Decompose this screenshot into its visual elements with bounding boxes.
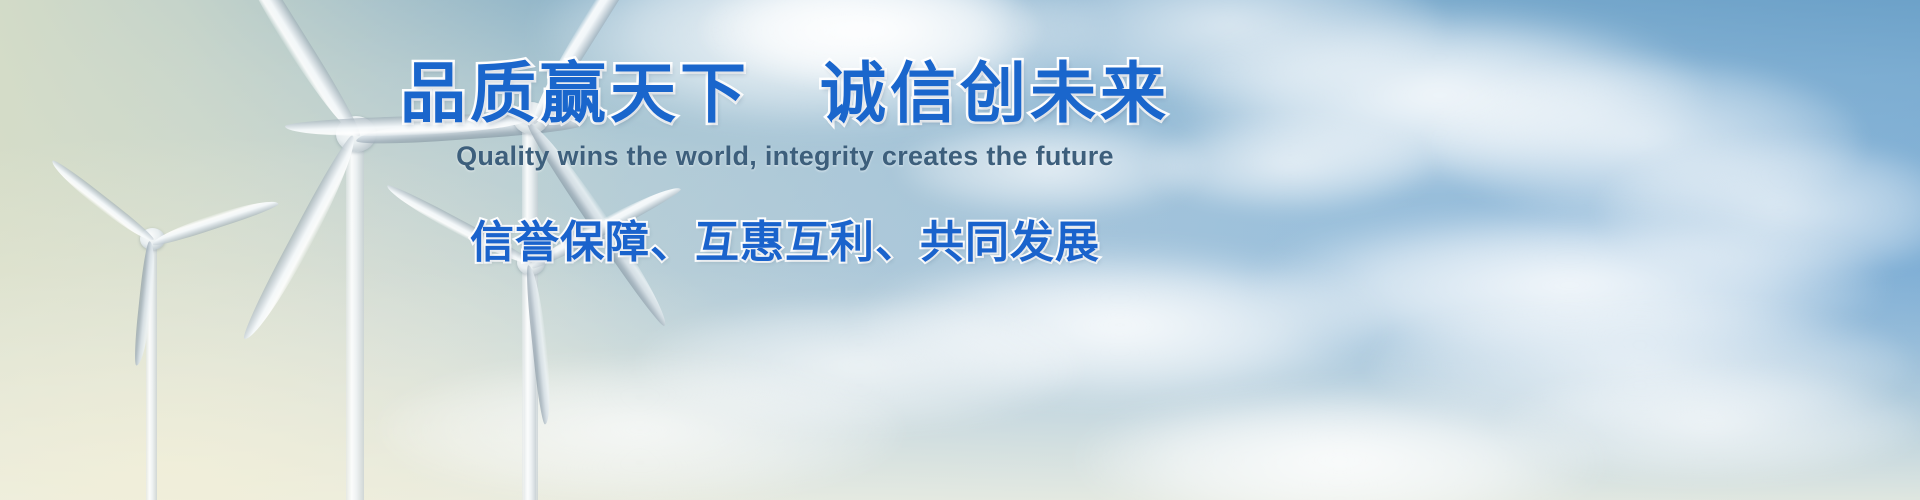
banner-headline: 品质赢天下 诚信创未来: [0, 58, 1570, 129]
banner-tagline: 信誉保障、互惠互利、共同发展: [0, 206, 1570, 270]
banner-text-block: 品质赢天下 诚信创未来 Quality wins the world, inte…: [0, 58, 1570, 270]
banner-subtitle-english: Quality wins the world, integrity create…: [0, 141, 1570, 172]
promo-banner: 品质赢天下 诚信创未来 Quality wins the world, inte…: [0, 0, 1920, 500]
